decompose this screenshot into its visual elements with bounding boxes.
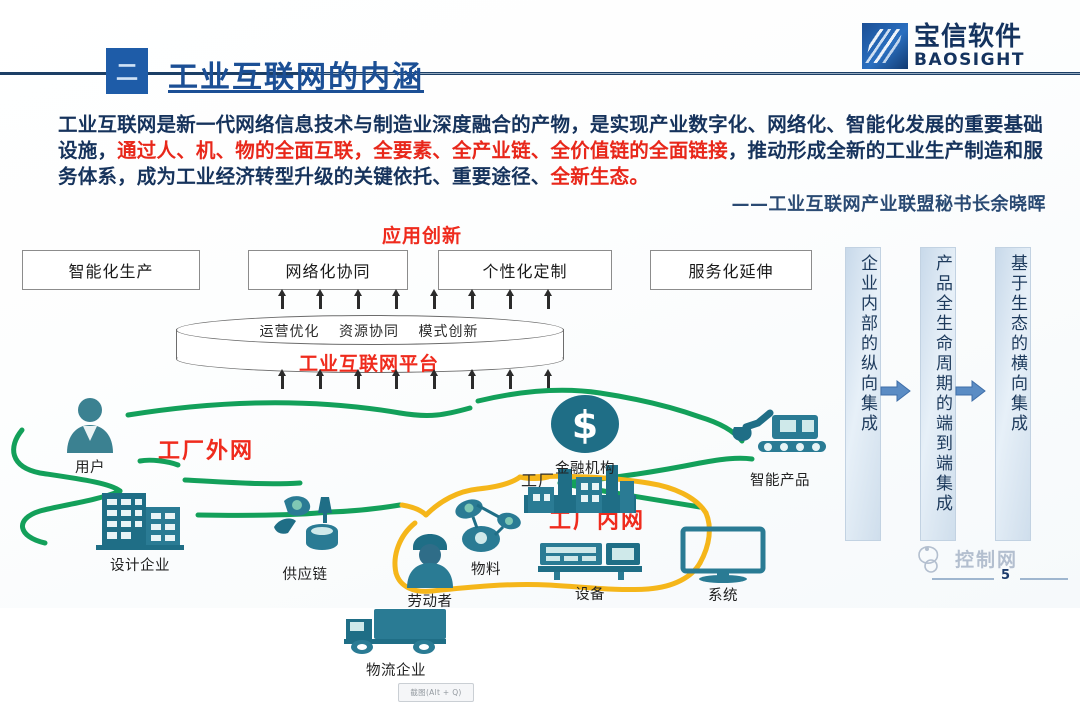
baosight-logo: 宝信软件 BAOSIGHT	[862, 20, 1052, 72]
integration-panel-label: 产品全生命周期的端到端集成	[921, 248, 955, 514]
node-label-smart-product: 智能产品	[750, 469, 810, 490]
integration-panel-vertical: 基于生态的横向集成	[995, 247, 1031, 541]
integration-panel-label: 基于生态的横向集成	[996, 248, 1030, 434]
screenshot-tooltip-artifact: 截图(Alt + Q)	[398, 683, 474, 702]
integration-panel-label: 企业内部的纵向集成	[846, 248, 880, 434]
node-label-financial-institution: 金融机构	[555, 457, 615, 478]
svg-text:$: $	[572, 403, 598, 447]
building-icon	[94, 485, 186, 553]
page-title: 工业互联网的内涵	[168, 52, 424, 96]
page-number: 5	[1001, 568, 1010, 583]
section-number-badge: 二	[106, 48, 148, 94]
page-rule-left	[932, 578, 994, 580]
page-rule-right	[1020, 578, 1068, 580]
node-label-design-enterprise: 设计企业	[110, 554, 170, 575]
supply-chain-icon	[266, 487, 344, 559]
title-divider-light	[318, 73, 1080, 74]
user-icon	[59, 397, 121, 455]
material-icon	[447, 495, 525, 557]
node-label-equipment: 设备	[575, 583, 605, 604]
paragraph-highlight-run: 全新生态。	[551, 165, 650, 188]
excavator-icon	[728, 407, 832, 467]
control-net-logo-icon	[915, 543, 949, 573]
paragraph-highlight-run: 通过人、机、物的全面互联，全要素、全产业链、全价值链的全面链接	[117, 139, 728, 162]
integration-panel-vertical: 企业内部的纵向集成	[845, 247, 881, 541]
node-label-logistics-enterprise: 物流企业	[366, 659, 426, 680]
truck-icon	[342, 605, 450, 657]
node-label-material: 物料	[471, 558, 501, 579]
logo-label-en: BAOSIGHT	[914, 52, 1025, 69]
node-label-supply-chain: 供应链	[283, 563, 328, 584]
panel-arrow-icon	[881, 380, 911, 402]
attribution-line: ——工业互联网产业联盟秘书长余晓晖	[732, 190, 1047, 216]
logo-text-group: 宝信软件 BAOSIGHT	[914, 24, 1025, 69]
logo-label-cn: 宝信软件	[914, 24, 1025, 50]
dollar-coin-icon: $	[549, 393, 621, 455]
baosight-logo-icon	[862, 23, 908, 69]
panel-arrow-icon	[956, 380, 986, 402]
monitor-icon	[679, 525, 767, 583]
node-label-user: 用户	[75, 456, 105, 477]
equipment-icon	[538, 535, 642, 583]
slide-root: 宝信软件 BAOSIGHT 二 工业互联网的内涵 工业互联网是新一代网络信息技术…	[0, 0, 1080, 608]
node-label-system: 系统	[708, 584, 738, 605]
integration-panel-vertical: 产品全生命周期的端到端集成	[920, 247, 956, 541]
intro-paragraph: 工业互联网是新一代网络信息技术与制造业深度融合的产物，是实现产业数字化、网络化、…	[58, 112, 1050, 190]
outer-network-label: 工厂外网	[158, 433, 254, 465]
